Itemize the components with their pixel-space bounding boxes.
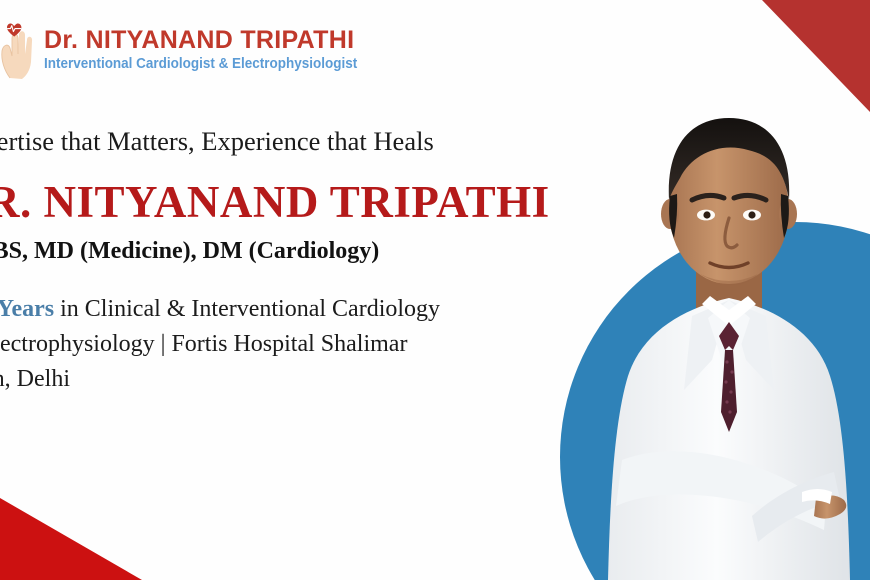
banner-copy: Expertise that Matters, Experience that … <box>0 126 674 396</box>
experience-block: 35+ Years in Clinical & Interventional C… <box>0 292 674 396</box>
doctor-name-heading: DR. NITYANAND TRIPATHI <box>0 178 674 228</box>
experience-line-1: 35+ Years in Clinical & Interventional C… <box>0 292 674 327</box>
clinic-logo: Dr. NITYANAND TRIPATHI Interventional Ca… <box>0 18 381 80</box>
experience-line-3: Bagh, Delhi <box>0 362 674 397</box>
experience-line-1-rest: in Clinical & Interventional Cardiology <box>54 296 440 322</box>
bottom-left-red-wedge <box>0 498 142 580</box>
experience-line-2: & Electrophysiology | Fortis Hospital Sh… <box>0 327 674 362</box>
doctor-degrees: MBBS, MD (Medicine), DM (Cardiology) <box>0 237 674 266</box>
logo-text-block: Dr. NITYANAND TRIPATHI Interventional Ca… <box>44 25 381 74</box>
doctor-profile-banner: Dr. NITYANAND TRIPATHI Interventional Ca… <box>0 0 870 580</box>
tagline: Expertise that Matters, Experience that … <box>0 126 674 158</box>
hand-holding-heart-icon <box>0 18 40 80</box>
logo-title: Dr. NITYANAND TRIPATHI <box>44 27 381 53</box>
logo-subtitle: Interventional Cardiologist & Electrophy… <box>44 56 357 73</box>
experience-highlight: 35+ Years <box>0 296 54 322</box>
